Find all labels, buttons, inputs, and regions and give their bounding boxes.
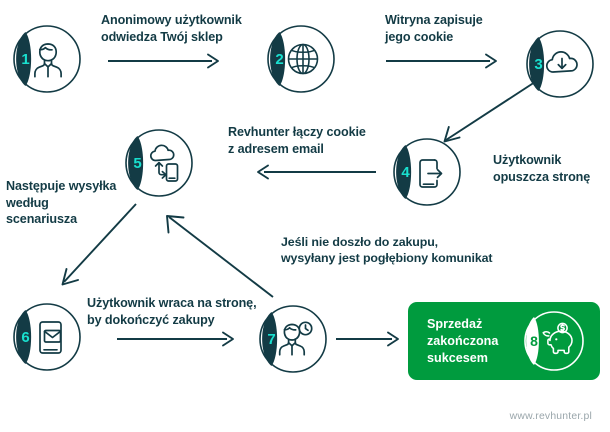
step-number-7: 7	[267, 331, 275, 348]
caption-3: Użytkownik opuszcza stronę	[493, 152, 590, 185]
infographic-canvas: 1 Anonimowy użytkownik odwiedza Twój skl…	[0, 0, 610, 432]
footer-url[interactable]: www.revhunter.pl	[510, 411, 592, 422]
cloud-download-icon	[547, 52, 577, 72]
piggy-bank-icon	[543, 323, 572, 353]
cloud-sync-phone-icon	[151, 145, 178, 181]
step-number-1: 1	[21, 51, 29, 68]
arrow-7-to-success	[336, 330, 406, 348]
caption-1: Anonimowy użytkownik odwiedza Twój sklep	[101, 12, 242, 45]
phone-envelope-icon	[40, 322, 61, 353]
phone-exit-icon	[420, 160, 442, 187]
step-node-4: 4	[390, 135, 464, 209]
caption-4: Revhunter łączy cookie z adresem email	[228, 124, 366, 157]
step-number-2: 2	[275, 51, 283, 68]
arrow-7-to-5	[155, 203, 287, 303]
arrow-6-to-7	[117, 330, 243, 348]
step-node-7: 7	[256, 302, 330, 376]
success-box: Sprzedaż zakończona sukcesem 8	[408, 302, 600, 380]
caption-6: Jeśli nie doszło do zakupu, wysyłany jes…	[281, 234, 492, 267]
step-number-4: 4	[401, 164, 410, 181]
step-number-8: 8	[530, 333, 538, 349]
step-node-6: 6	[10, 300, 84, 374]
step-number-3: 3	[534, 56, 542, 73]
caption-7: Użytkownik wraca na stronę, by dokończyć…	[87, 295, 256, 328]
step-node-5: 5	[122, 126, 196, 200]
step-number-6: 6	[21, 329, 29, 346]
success-label: Sprzedaż zakończona sukcesem	[427, 316, 498, 367]
step-node-1: 1	[10, 22, 84, 96]
arrow-4-to-5	[252, 163, 382, 181]
arrow-1-to-2	[108, 52, 224, 70]
step-number-5: 5	[133, 155, 141, 172]
step-node-8: 8	[520, 308, 588, 374]
caption-2: Witryna zapisuje jego cookie	[385, 12, 483, 45]
user-clock-icon	[280, 322, 312, 355]
user-icon	[35, 44, 61, 77]
globe-icon	[289, 45, 318, 74]
arrow-5-to-6	[50, 200, 150, 294]
arrow-2-to-3	[386, 52, 502, 70]
step-node-2: 2	[264, 22, 338, 96]
